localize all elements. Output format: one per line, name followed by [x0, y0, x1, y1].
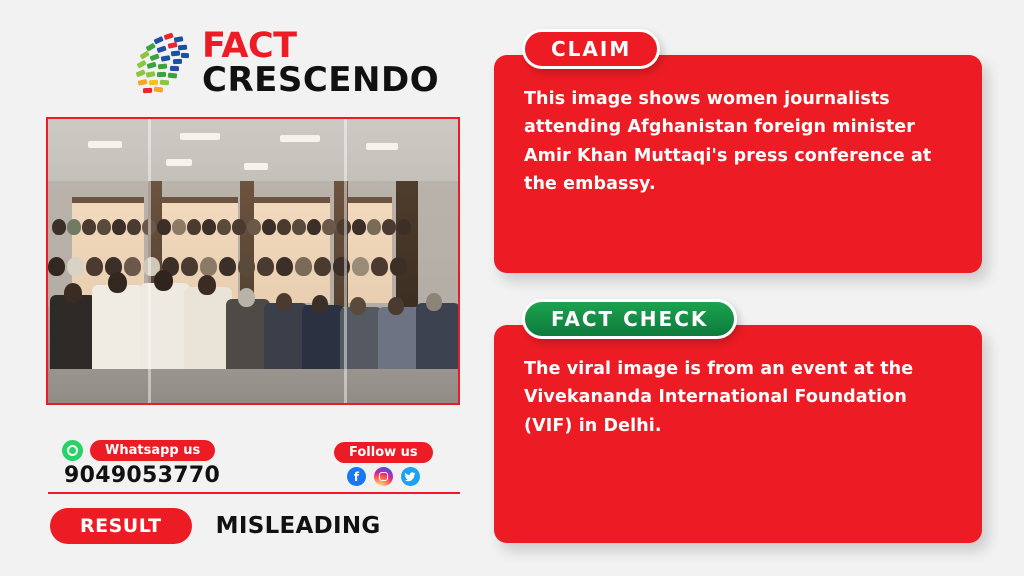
attendee-figure	[378, 307, 420, 369]
attendee-head	[350, 297, 366, 315]
attendee-head	[426, 293, 442, 311]
attendee-head	[238, 288, 255, 307]
brand-name-crescendo: CRESCENDO	[202, 63, 439, 99]
ceiling-light	[180, 133, 220, 140]
left-panel: FACT CRESCENDO	[0, 0, 482, 576]
whatsapp-us-button[interactable]: Whatsapp us	[90, 440, 215, 461]
viral-photo: FACT MISLEADING CRESCENDO	[46, 117, 460, 405]
twitter-icon[interactable]	[401, 467, 420, 486]
result-value: MISLEADING	[216, 513, 381, 539]
ceiling-light	[280, 135, 320, 142]
attendee-figure	[50, 295, 96, 369]
right-panel: CLAIM This image shows women journalists…	[482, 0, 1024, 576]
audience-row-middle	[48, 257, 458, 276]
follow-group: Follow us f	[334, 442, 433, 486]
instagram-icon[interactable]	[374, 467, 393, 486]
fact-check-badge: FACT CHECK	[522, 299, 737, 339]
photo-scene	[48, 119, 458, 403]
attendee-figure	[302, 305, 344, 369]
brand-wordmark: FACT CRESCENDO	[202, 30, 439, 99]
attendee-head	[388, 297, 404, 315]
attendee-head	[276, 293, 292, 311]
whatsapp-line: Whatsapp us	[62, 440, 220, 461]
attendee-head	[154, 270, 173, 291]
brand-logo: FACT CRESCENDO	[124, 28, 439, 100]
claim-badge: CLAIM	[522, 29, 660, 69]
facebook-icon[interactable]: f	[347, 467, 366, 486]
attendee-figure	[92, 285, 144, 369]
fact-check-text: The viral image is from an event at the …	[524, 355, 956, 440]
attendee-head	[312, 295, 328, 313]
photo-ceiling	[48, 119, 458, 181]
photo-seam	[148, 119, 151, 403]
whatsapp-icon	[62, 440, 83, 461]
contact-bar: Whatsapp us 9049053770 Follow us f	[62, 440, 462, 490]
ceiling-light	[88, 141, 122, 148]
result-label: RESULT	[50, 508, 192, 544]
social-icon-list: f	[347, 467, 420, 486]
ceiling-light	[366, 143, 398, 150]
claim-text: This image shows women journalists atten…	[524, 85, 956, 198]
photo-seam	[344, 119, 347, 403]
whatsapp-number[interactable]: 9049053770	[64, 463, 220, 488]
fact-check-card: FACT CHECK The viral image is from an ev…	[494, 325, 982, 543]
ceiling-light	[166, 159, 192, 166]
whatsapp-group[interactable]: Whatsapp us 9049053770	[62, 440, 220, 488]
brand-name-fact: FACT	[202, 30, 439, 63]
attendee-figure	[416, 303, 460, 369]
result-row: RESULT MISLEADING	[50, 508, 381, 544]
photo-audience	[48, 219, 458, 369]
audience-row-back	[48, 219, 458, 235]
attendee-figure	[184, 287, 232, 369]
globe-mosaic-icon	[124, 28, 194, 100]
ceiling-light	[244, 163, 268, 170]
attendee-head	[198, 275, 216, 295]
footer-divider	[48, 492, 460, 494]
follow-us-button[interactable]: Follow us	[334, 442, 433, 463]
attendee-head	[64, 283, 82, 303]
attendee-head	[108, 272, 127, 293]
claim-card: CLAIM This image shows women journalists…	[494, 55, 982, 273]
